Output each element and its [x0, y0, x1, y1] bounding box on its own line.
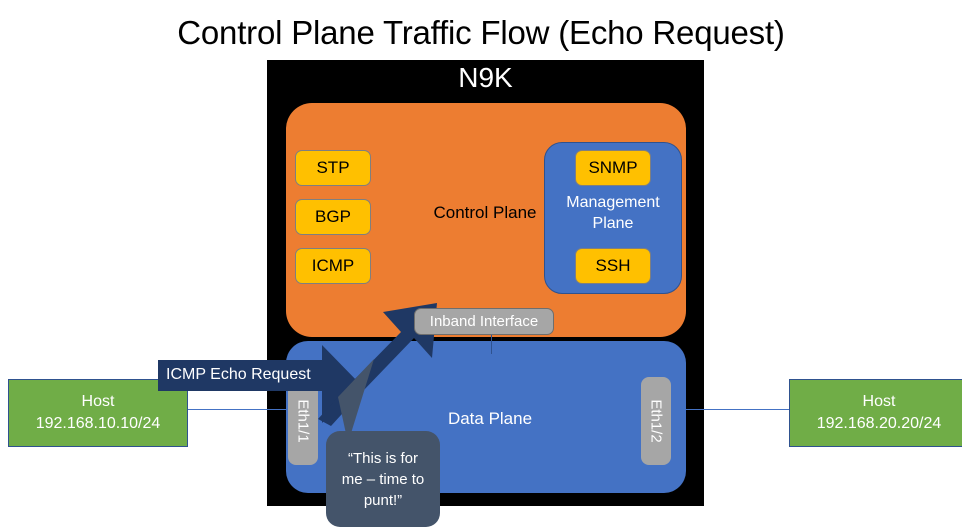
callout-text: “This is for me – time to punt!”	[331, 448, 435, 511]
management-plane-label-line1: Management	[548, 192, 678, 213]
management-plane-label-line2: Plane	[548, 213, 678, 234]
host-right-address: 192.168.20.20/24	[817, 413, 942, 435]
port-eth1-1-label: Eth1/1	[295, 399, 312, 442]
management-plane-label: Management Plane	[548, 192, 678, 234]
diagram-canvas: Control Plane Traffic Flow (Echo Request…	[0, 0, 962, 527]
callout-line-3: punt!”	[331, 490, 435, 511]
callout-line-1: “This is for	[331, 448, 435, 469]
protocol-chip-ssh[interactable]: SSH	[575, 248, 651, 284]
icmp-banner-label: ICMP Echo Request	[166, 366, 326, 384]
n9k-chassis-label: N9K	[267, 62, 704, 94]
data-plane-label: Data Plane	[400, 409, 580, 429]
link-line-host-right	[672, 409, 790, 410]
inband-interface-chip[interactable]: Inband Interface	[414, 308, 554, 335]
host-left[interactable]: Host 192.168.10.10/24	[8, 379, 188, 447]
port-eth1-1[interactable]: Eth1/1	[288, 377, 318, 465]
port-eth1-2-label: Eth1/2	[648, 399, 665, 442]
callout-line-2: me – time to	[331, 469, 435, 490]
protocol-chip-bgp[interactable]: BGP	[295, 199, 371, 235]
protocol-chip-snmp[interactable]: SNMP	[575, 150, 651, 186]
protocol-chip-stp[interactable]: STP	[295, 150, 371, 186]
protocol-chip-icmp[interactable]: ICMP	[295, 248, 371, 284]
host-right[interactable]: Host 192.168.20.20/24	[789, 379, 962, 447]
inband-interface-connector	[491, 332, 492, 354]
host-left-label: Host	[82, 391, 115, 413]
link-line-host-left	[188, 409, 289, 410]
port-eth1-2[interactable]: Eth1/2	[641, 377, 671, 465]
host-right-label: Host	[863, 391, 896, 413]
page-title: Control Plane Traffic Flow (Echo Request…	[0, 14, 962, 52]
host-left-address: 192.168.10.10/24	[36, 413, 161, 435]
callout-bubble: “This is for me – time to punt!”	[326, 431, 440, 527]
